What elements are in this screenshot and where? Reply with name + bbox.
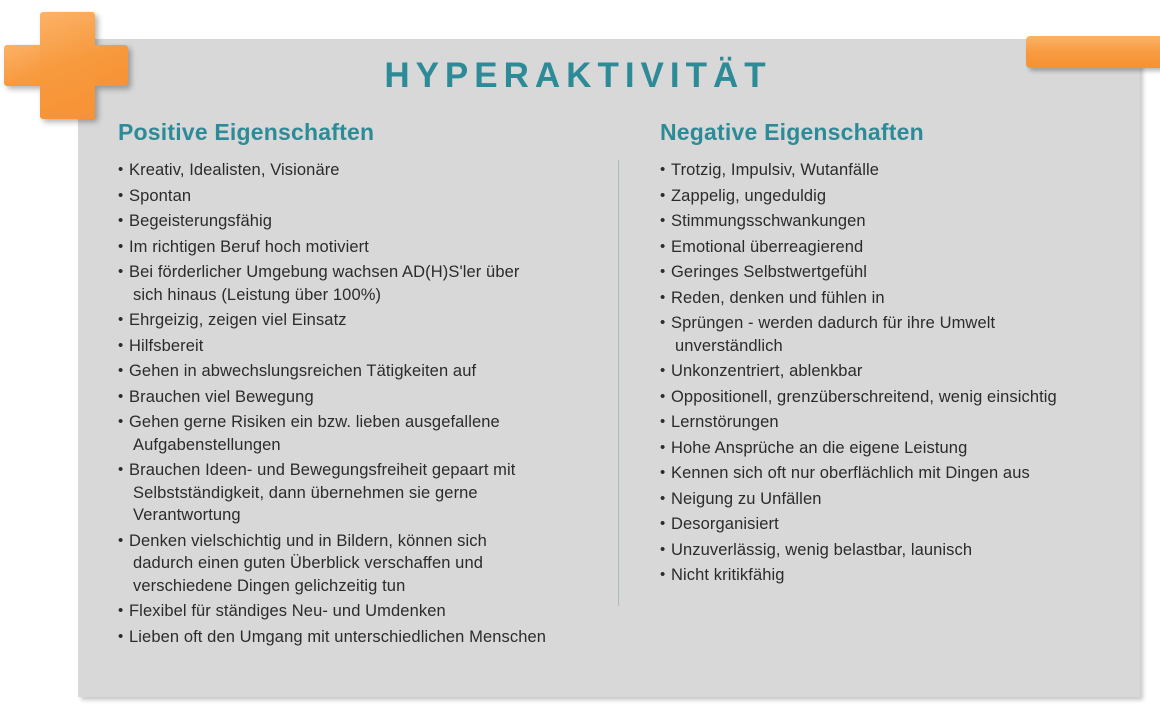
list-item-text: Lieben oft den Umgang mit unterschiedlic… (129, 628, 546, 646)
list-item-text: Kennen sich oft nur oberflächlich mit Di… (671, 464, 1030, 482)
list-item: Nicht kritikfähig (660, 564, 1130, 587)
list-item: Gehen gerne Risiken ein bzw. lieben ausg… (118, 411, 610, 456)
slide-title: HYPERAKTIVITÄT (78, 56, 1078, 96)
list-item-text: Desorganisiert (671, 515, 779, 533)
list-item: Begeisterungsfähig (118, 210, 610, 233)
column-divider (618, 160, 619, 606)
list-item-text: Lernstörungen (671, 413, 779, 431)
list-item: Hilfsbereit (118, 335, 610, 358)
list-item-text: Geringes Selbstwertgefühl (671, 263, 867, 281)
list-item-text: Brauchen viel Bewegung (129, 388, 314, 406)
list-item: Kreativ, Idealisten, Visionäre (118, 159, 610, 182)
list-item-text: Unzuverlässig, wenig belastbar, launisch (671, 541, 972, 559)
list-item: Oppositionell, grenzüberschreitend, weni… (660, 386, 1130, 409)
list-item-text: Trotzig, Impulsiv, Wutanfälle (671, 161, 879, 179)
list-item-text: Flexibel für ständiges Neu- und Umdenken (129, 602, 446, 620)
list-item-text: Ehrgeizig, zeigen viel Einsatz (129, 311, 347, 329)
list-item-text: Zappelig, ungeduldig (671, 187, 826, 205)
list-item-continuation: unverständlich (671, 335, 1130, 358)
list-item: Spontan (118, 185, 610, 208)
negative-column: Negative Eigenschaften Trotzig, Impulsiv… (660, 120, 1130, 590)
orange-bar-shape (1026, 36, 1160, 68)
negative-column-heading: Negative Eigenschaften (660, 120, 1130, 145)
list-item-text: Gehen gerne Risiken ein bzw. lieben ausg… (129, 413, 500, 431)
list-item-text: Begeisterungsfähig (129, 212, 272, 230)
list-item: Sprüngen - werden dadurch für ihre Umwel… (660, 312, 1130, 357)
list-item-text: Hilfsbereit (129, 337, 203, 355)
list-item: Stimmungsschwankungen (660, 210, 1130, 233)
list-item-text: Hohe Ansprüche an die eigene Leistung (671, 439, 967, 457)
list-item: Geringes Selbstwertgefühl (660, 261, 1130, 284)
list-item: Lernstörungen (660, 411, 1130, 434)
list-item: Hohe Ansprüche an die eigene Leistung (660, 437, 1130, 460)
list-item-text: Reden, denken und fühlen in (671, 289, 885, 307)
list-item: Flexibel für ständiges Neu- und Umdenken (118, 600, 610, 623)
list-item-text: Kreativ, Idealisten, Visionäre (129, 161, 340, 179)
list-item-text: Oppositionell, grenzüberschreitend, weni… (671, 388, 1057, 406)
list-item-text: Nicht kritikfähig (671, 566, 785, 584)
list-item-text: Im richtigen Beruf hoch motiviert (129, 238, 369, 256)
orange-cross-icon (4, 12, 128, 119)
list-item-continuation: verschiedene Dingen gelichzeitig tun (129, 575, 610, 598)
list-item: Unkonzentriert, ablenkbar (660, 360, 1130, 383)
list-item-continuation: sich hinaus (Leistung über 100%) (129, 284, 610, 307)
list-item-continuation: Selbstständigkeit, dann übernehmen sie g… (129, 482, 610, 505)
list-item-text: Neigung zu Unfällen (671, 490, 822, 508)
list-item: Im richtigen Beruf hoch motiviert (118, 236, 610, 259)
list-item: Gehen in abwechslungsreichen Tätigkeiten… (118, 360, 610, 383)
list-item: Desorganisiert (660, 513, 1130, 536)
list-item: Reden, denken und fühlen in (660, 287, 1130, 310)
positive-bullet-list: Kreativ, Idealisten, VisionäreSpontanBeg… (118, 159, 610, 648)
list-item: Unzuverlässig, wenig belastbar, launisch (660, 539, 1130, 562)
list-item-text: Brauchen Ideen- und Bewegungsfreiheit ge… (129, 461, 515, 479)
list-item: Brauchen viel Bewegung (118, 386, 610, 409)
positive-column-heading: Positive Eigenschaften (118, 120, 610, 145)
list-item: Bei förderlicher Umgebung wachsen AD(H)S… (118, 261, 610, 306)
list-item-text: Bei förderlicher Umgebung wachsen AD(H)S… (129, 263, 519, 281)
list-item-text: Emotional überreagierend (671, 238, 863, 256)
list-item-text: Gehen in abwechslungsreichen Tätigkeiten… (129, 362, 476, 380)
list-item-continuation: Aufgabenstellungen (129, 434, 610, 457)
list-item-text: Stimmungsschwankungen (671, 212, 866, 230)
list-item: Emotional überreagierend (660, 236, 1130, 259)
list-item-text: Denken vielschichtig und in Bildern, kön… (129, 532, 487, 550)
cross-vertical-bar (40, 12, 95, 119)
list-item: Zappelig, ungeduldig (660, 185, 1130, 208)
list-item: Trotzig, Impulsiv, Wutanfälle (660, 159, 1130, 182)
slide-canvas: HYPERAKTIVITÄT Positive Eigenschaften Kr… (0, 0, 1160, 711)
list-item: Brauchen Ideen- und Bewegungsfreiheit ge… (118, 459, 610, 527)
list-item-continuation: dadurch einen guten Überblick verschaffe… (129, 552, 610, 575)
list-item-continuation: Verantwortung (129, 504, 610, 527)
negative-bullet-list: Trotzig, Impulsiv, WutanfälleZappelig, u… (660, 159, 1130, 587)
list-item: Denken vielschichtig und in Bildern, kön… (118, 530, 610, 598)
positive-column: Positive Eigenschaften Kreativ, Idealist… (118, 120, 610, 651)
list-item: Kennen sich oft nur oberflächlich mit Di… (660, 462, 1130, 485)
list-item-text: Spontan (129, 187, 191, 205)
list-item: Ehrgeizig, zeigen viel Einsatz (118, 309, 610, 332)
list-item-text: Unkonzentriert, ablenkbar (671, 362, 862, 380)
list-item: Lieben oft den Umgang mit unterschiedlic… (118, 626, 610, 649)
list-item: Neigung zu Unfällen (660, 488, 1130, 511)
list-item-text: Sprüngen - werden dadurch für ihre Umwel… (671, 314, 995, 332)
